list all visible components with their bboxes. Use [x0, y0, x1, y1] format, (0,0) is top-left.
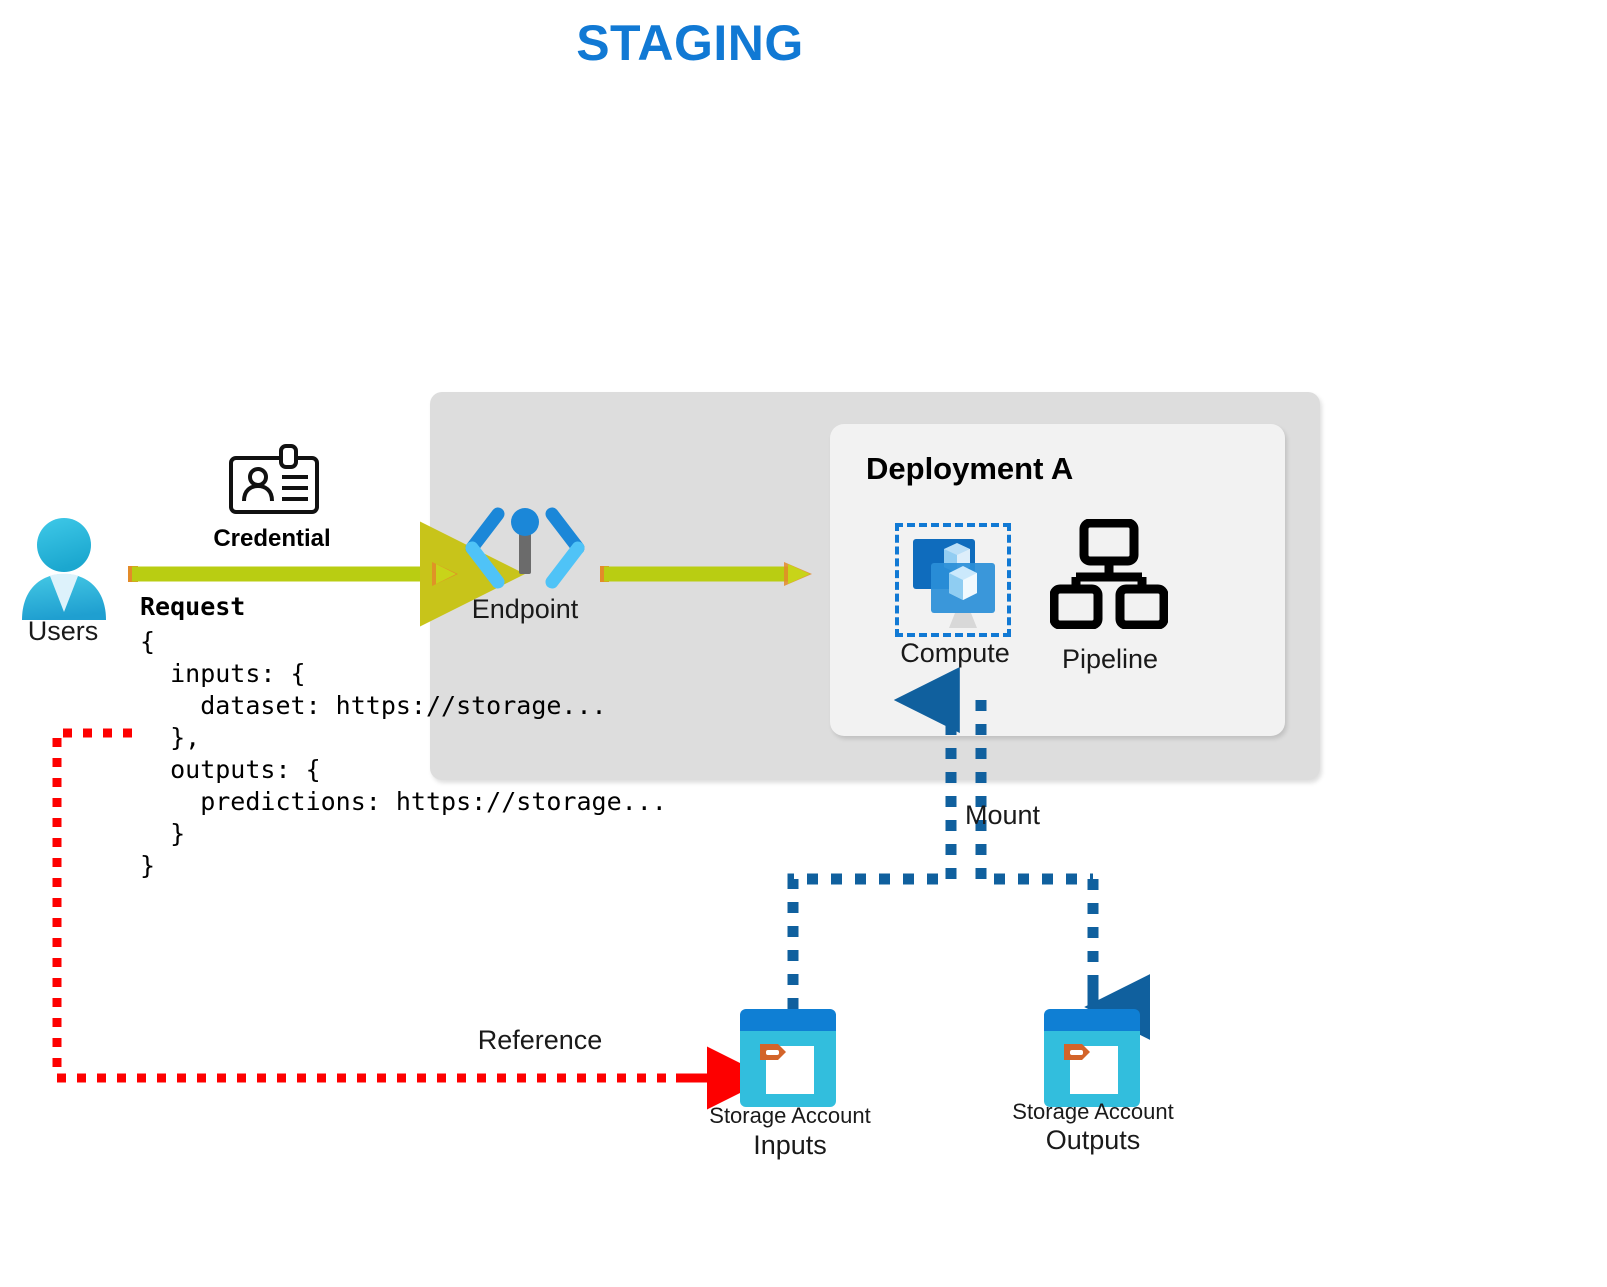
storage-account-outputs-icon: [1044, 1009, 1140, 1107]
page-title: STAGING: [0, 14, 1380, 72]
mount-label: Mount: [965, 800, 1095, 831]
request-label: Request: [140, 592, 245, 621]
pipeline-icon: [1050, 519, 1168, 629]
storage-outputs-label-line2: Outputs: [975, 1125, 1211, 1156]
compute-label: Compute: [875, 638, 1035, 669]
storage-account-inputs-icon: [740, 1009, 836, 1107]
reference-label: Reference: [430, 1025, 650, 1056]
deployment-title: Deployment A: [866, 451, 1073, 487]
users-label: Users: [8, 616, 118, 647]
storage-outputs-label-line1: Storage Account: [975, 1099, 1211, 1125]
request-body: { inputs: { dataset: https://storage... …: [140, 626, 667, 882]
compute-node[interactable]: [895, 523, 1011, 637]
credential-icon: [228, 444, 320, 516]
diagram-canvas: STAGING Deployment A: [0, 0, 1607, 1287]
storage-inputs-label-line2: Inputs: [672, 1130, 908, 1161]
users-icon: [16, 516, 112, 620]
credential-label: Credential: [172, 525, 372, 553]
arrow-users-to-endpoint: [128, 562, 458, 586]
endpoint-icon: [462, 504, 588, 592]
storage-inputs-label-line1: Storage Account: [672, 1103, 908, 1129]
endpoint-label: Endpoint: [430, 594, 620, 625]
pipeline-label: Pipeline: [1035, 644, 1185, 675]
compute-icon: [899, 527, 1007, 633]
